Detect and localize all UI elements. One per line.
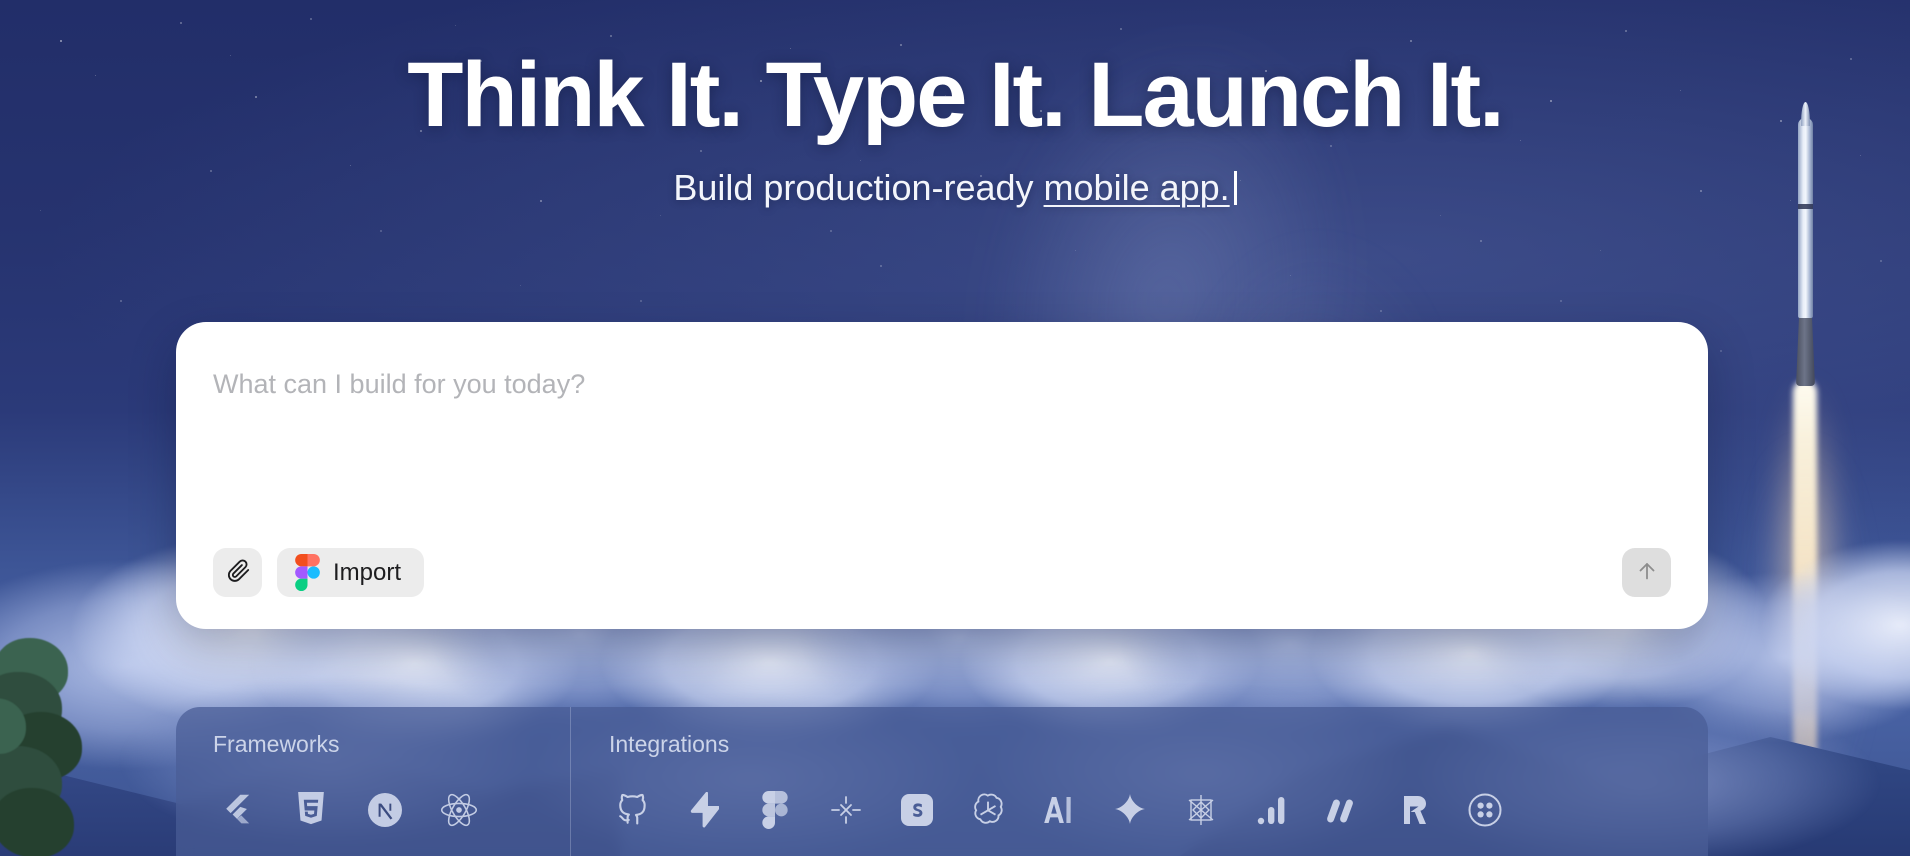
foreground-tree [0,638,92,856]
integrations-section: Integrations [570,707,1708,856]
prompt-input[interactable]: What can I build for you today? [213,369,585,400]
page-title: Think It. Type It. Launch It. [0,48,1910,144]
react-icon[interactable] [435,786,483,834]
slashes-icon[interactable] [1319,786,1367,834]
frameworks-title: Frameworks [213,731,570,758]
nextjs-icon[interactable] [361,786,409,834]
resend-icon[interactable] [1390,786,1438,834]
supabase-icon[interactable] [680,786,728,834]
dots-circle-icon[interactable] [1461,786,1509,834]
prompt-card: What can I build for you today? Import [176,322,1708,629]
hero-subtitle-prefix: Build production-ready [673,167,1043,208]
integrations-icon-list [609,786,1708,834]
github-icon[interactable] [609,786,657,834]
gemini-icon[interactable] [1106,786,1154,834]
text-caret [1234,171,1237,205]
figma-icon[interactable] [751,786,799,834]
send-button[interactable] [1622,548,1671,597]
hero-subtitle-typed-word: mobile app. [1044,167,1230,208]
html5-icon[interactable] [287,786,335,834]
frameworks-icon-list [213,786,570,834]
hero-subtitle: Build production-ready mobile app. [0,166,1910,209]
frameworks-section: Frameworks [176,707,570,856]
openai-icon[interactable] [964,786,1012,834]
flutter-icon[interactable] [213,786,261,834]
rocket-engine [1796,316,1815,386]
sentry-icon[interactable] [822,786,870,834]
import-button-label: Import [333,559,401,587]
integrations-title: Integrations [609,731,1708,758]
prompt-toolbar: Import [213,548,424,597]
tech-stack-bar: Frameworks [176,707,1708,856]
analytics-icon[interactable] [1248,786,1296,834]
hero-section: Think It. Type It. Launch It. Build prod… [0,48,1910,209]
figma-icon [294,554,320,592]
snowflake-icon[interactable] [1177,786,1225,834]
arrow-up-icon [1635,559,1659,586]
paperclip-icon [225,558,251,587]
anthropic-icon[interactable] [1035,786,1083,834]
attach-file-button[interactable] [213,548,262,597]
import-figma-button[interactable]: Import [277,548,424,597]
star-field-small [0,0,1,1]
stripe-icon[interactable] [893,786,941,834]
